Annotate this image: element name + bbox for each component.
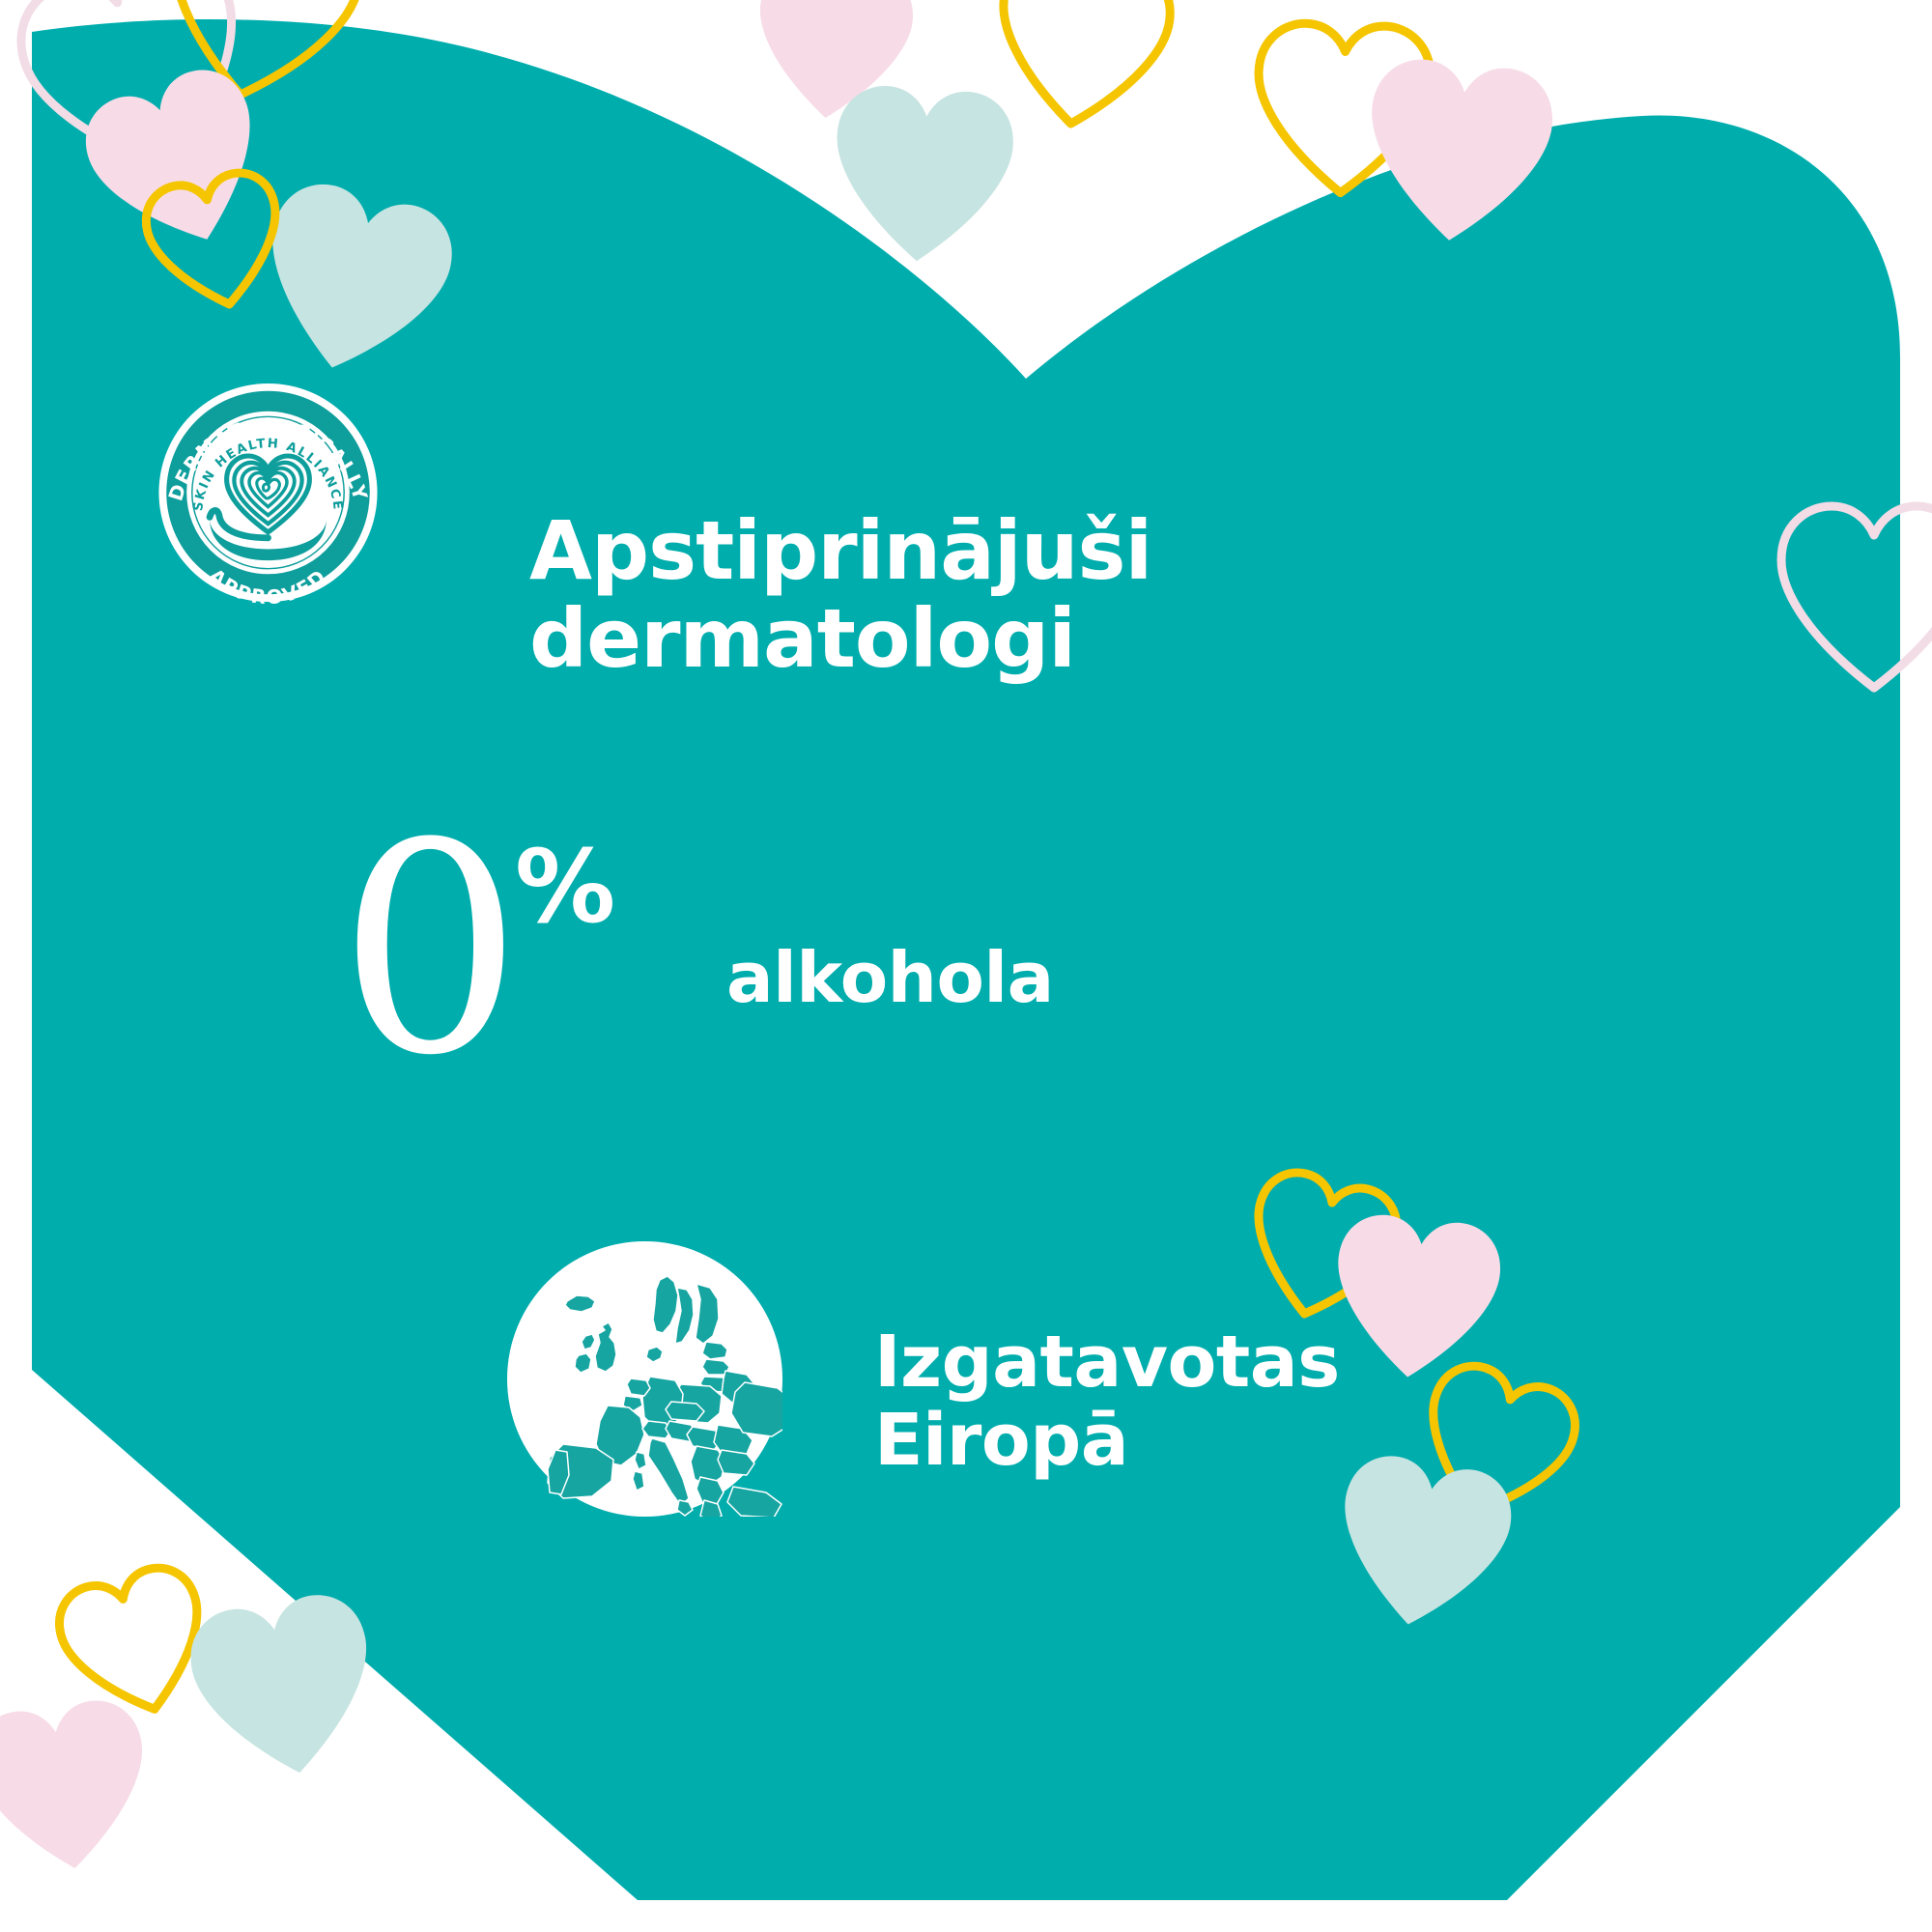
alcohol-percentage-number: 0: [338, 806, 523, 1095]
badge-registered-mark: ®: [345, 513, 355, 526]
poster-canvas: DERMATOLOGICALLY APPROVED SKIN HEALTH AL…: [0, 0, 1932, 1932]
headline-line-2: dermatologi: [529, 595, 1321, 683]
europe-map-icon: [507, 1241, 782, 1517]
headline-line-1: Apstiprinājuši: [529, 507, 1321, 595]
dermatologically-approved-badge: DERMATOLOGICALLY APPROVED SKIN HEALTH AL…: [145, 382, 391, 604]
origin-line-2: Eiropā: [874, 1402, 1492, 1480]
origin-claim-label: Izgatavotas Eiropā: [874, 1323, 1492, 1481]
origin-line-1: Izgatavotas: [874, 1323, 1492, 1402]
alcohol-free-figure: 0 %: [338, 850, 676, 1140]
alcohol-claim-label: alkohola: [726, 942, 1054, 1015]
percent-sign: %: [515, 837, 615, 937]
page-title: Apstiprinājuši dermatologi: [529, 507, 1321, 682]
